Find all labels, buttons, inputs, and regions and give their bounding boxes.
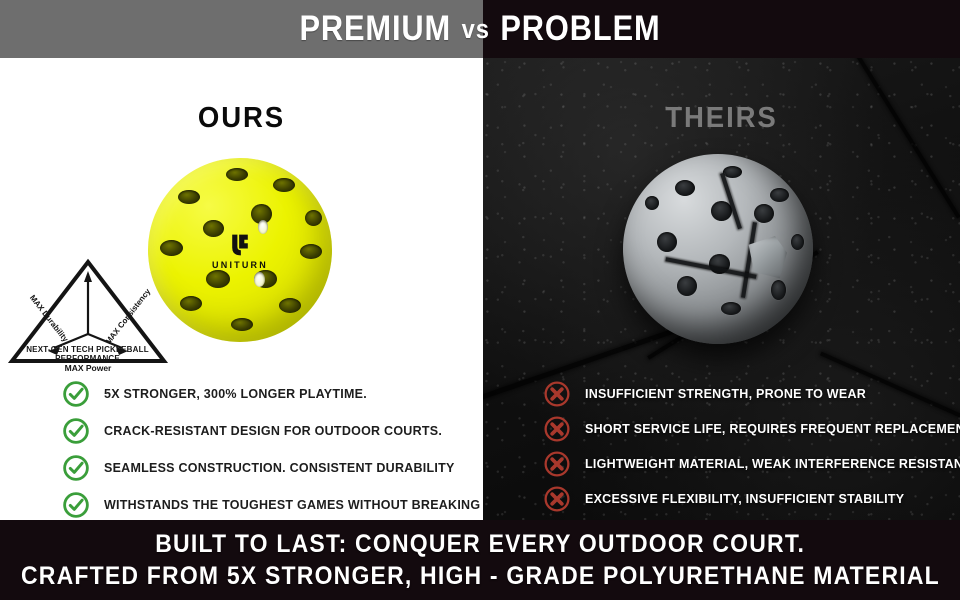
page-title-problem: PROBLEM xyxy=(500,9,660,49)
ball-hole xyxy=(657,232,677,252)
list-item-label: SEAMLESS CONSTRUCTION. CONSISTENT DURABI… xyxy=(104,461,455,475)
x-circle-icon xyxy=(543,380,571,408)
x-circle-icon xyxy=(543,485,571,513)
list-item-label: WITHSTANDS THE TOUGHEST GAMES WITHOUT BR… xyxy=(104,498,480,512)
list-item: EXCESSIVE FLEXIBILITY, INSUFFICIENT STAB… xyxy=(543,485,904,513)
ball-hole xyxy=(677,276,697,296)
ball-hole xyxy=(231,318,253,331)
footer-line-2: CRAFTED FROM 5X STRONGER, HIGH - GRADE P… xyxy=(21,560,940,592)
triangle-caption: NEXT-GEN TECH PICKLEBALL PERFORMANCE xyxy=(0,345,175,363)
list-item-label: EXCESSIVE FLEXIBILITY, INSUFFICIENT STAB… xyxy=(585,492,904,506)
ball-hole xyxy=(711,201,732,221)
list-item-label: CRACK-RESISTANT DESIGN FOR OUTDOOR COURT… xyxy=(104,424,442,438)
ball-hole xyxy=(645,196,659,210)
ball-hole xyxy=(771,280,786,300)
list-item: SHORT SERVICE LIFE, REQUIRES FREQUENT RE… xyxy=(543,415,960,443)
ball-hole xyxy=(203,220,224,237)
list-item: CRACK-RESISTANT DESIGN FOR OUTDOOR COURT… xyxy=(62,417,442,445)
ball-hole-lit xyxy=(254,272,265,287)
ball-hole xyxy=(279,298,301,313)
check-circle-icon xyxy=(62,417,90,445)
page-title: PREMIUM vs PROBLEM xyxy=(58,0,903,58)
ball-hole xyxy=(721,302,741,315)
ball-hole xyxy=(300,244,322,259)
ball-hole xyxy=(180,296,202,311)
check-circle-icon xyxy=(62,380,90,408)
ball-hole xyxy=(305,210,322,226)
footer-banner: BUILT TO LAST: CONQUER EVERY OUTDOOR COU… xyxy=(0,520,960,600)
ball-hole xyxy=(754,204,774,223)
ball-hole xyxy=(178,190,200,204)
list-item-label: INSUFFICIENT STRENGTH, PRONE TO WEAR xyxy=(585,387,866,401)
comparison-infographic: PREMIUM vs PROBLEM OURS xyxy=(0,0,960,600)
brand-name: UNITURN xyxy=(148,260,332,270)
list-item: LIGHTWEIGHT MATERIAL, WEAK INTERFERENCE … xyxy=(543,450,960,478)
list-item-label: SHORT SERVICE LIFE, REQUIRES FREQUENT RE… xyxy=(585,422,960,436)
check-circle-icon xyxy=(62,454,90,482)
triangle-label-durability: MAX Durability xyxy=(28,293,70,344)
ours-heading: OURS xyxy=(12,102,471,135)
uniturn-logo-mark xyxy=(227,232,253,258)
x-circle-icon xyxy=(543,415,571,443)
list-item: SEAMLESS CONSTRUCTION. CONSISTENT DURABI… xyxy=(62,454,455,482)
list-item-label: LIGHTWEIGHT MATERIAL, WEAK INTERFERENCE … xyxy=(585,457,960,471)
ball-hole xyxy=(791,234,804,250)
ball-hole-lit xyxy=(258,220,268,234)
theirs-heading: THEIRS xyxy=(495,102,948,135)
list-item: 5X STRONGER, 300% LONGER PLAYTIME. xyxy=(62,380,367,408)
ball-hole xyxy=(160,240,183,256)
ball-hole xyxy=(206,270,230,288)
list-item: INSUFFICIENT STRENGTH, PRONE TO WEAR xyxy=(543,380,866,408)
ball-hole xyxy=(723,166,742,178)
check-circle-icon xyxy=(62,491,90,519)
ball-hole xyxy=(675,180,695,196)
list-item: WITHSTANDS THE TOUGHEST GAMES WITHOUT BR… xyxy=(62,491,480,519)
page-title-vs: vs xyxy=(462,14,490,45)
competitor-pickleball xyxy=(623,154,813,344)
triangle-label-power: MAX Power xyxy=(65,363,112,371)
ball-hole xyxy=(770,188,789,202)
page-title-premium: PREMIUM xyxy=(299,9,451,49)
list-item-label: 5X STRONGER, 300% LONGER PLAYTIME. xyxy=(104,387,367,401)
theirs-panel: THEIRS xyxy=(483,58,960,520)
ball-hole xyxy=(273,178,295,192)
footer-line-1: BUILT TO LAST: CONQUER EVERY OUTDOOR COU… xyxy=(155,528,805,560)
x-circle-icon xyxy=(543,450,571,478)
our-pickleball: UNITURN xyxy=(148,158,332,342)
ours-panel: OURS UNITURN xyxy=(0,58,483,520)
header-banner: PREMIUM vs PROBLEM xyxy=(0,0,960,58)
ball-hole xyxy=(226,168,248,181)
